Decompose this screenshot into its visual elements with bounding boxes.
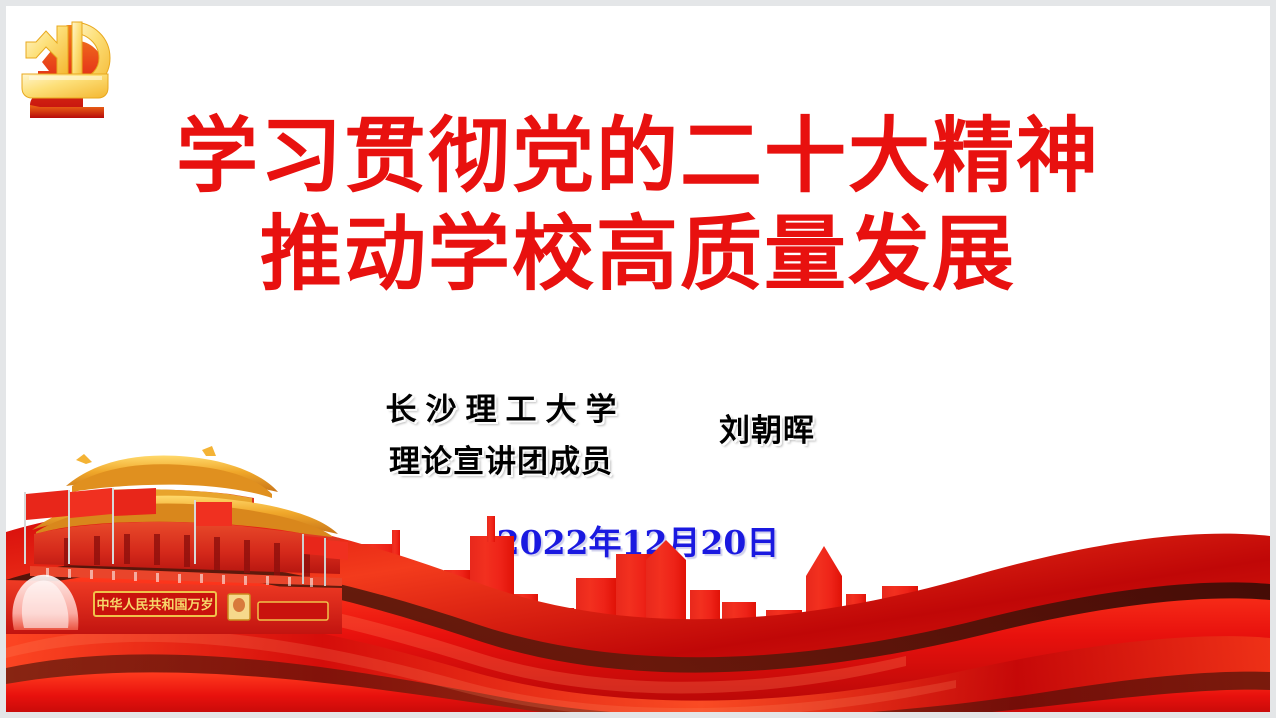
cpc-party-emblem-icon [10,10,146,118]
gate-banner: 中华人民共和国万岁 [94,592,216,616]
slide-title-line-2: 推动学校高质量发展 [6,209,1270,301]
presentation-slide: 学习贯彻党的二十大精神 推动学校高质量发展 长沙理工大学 理论宣讲团成员 刘朝晖… [6,6,1270,712]
slide-title-line-1: 学习贯彻党的二十大精神 [6,111,1270,203]
svg-text:中华人民共和国万岁: 中华人民共和国万岁 [96,597,213,613]
tiananmen-gate-illustration: 中华人民共和国万岁 [6,434,356,634]
